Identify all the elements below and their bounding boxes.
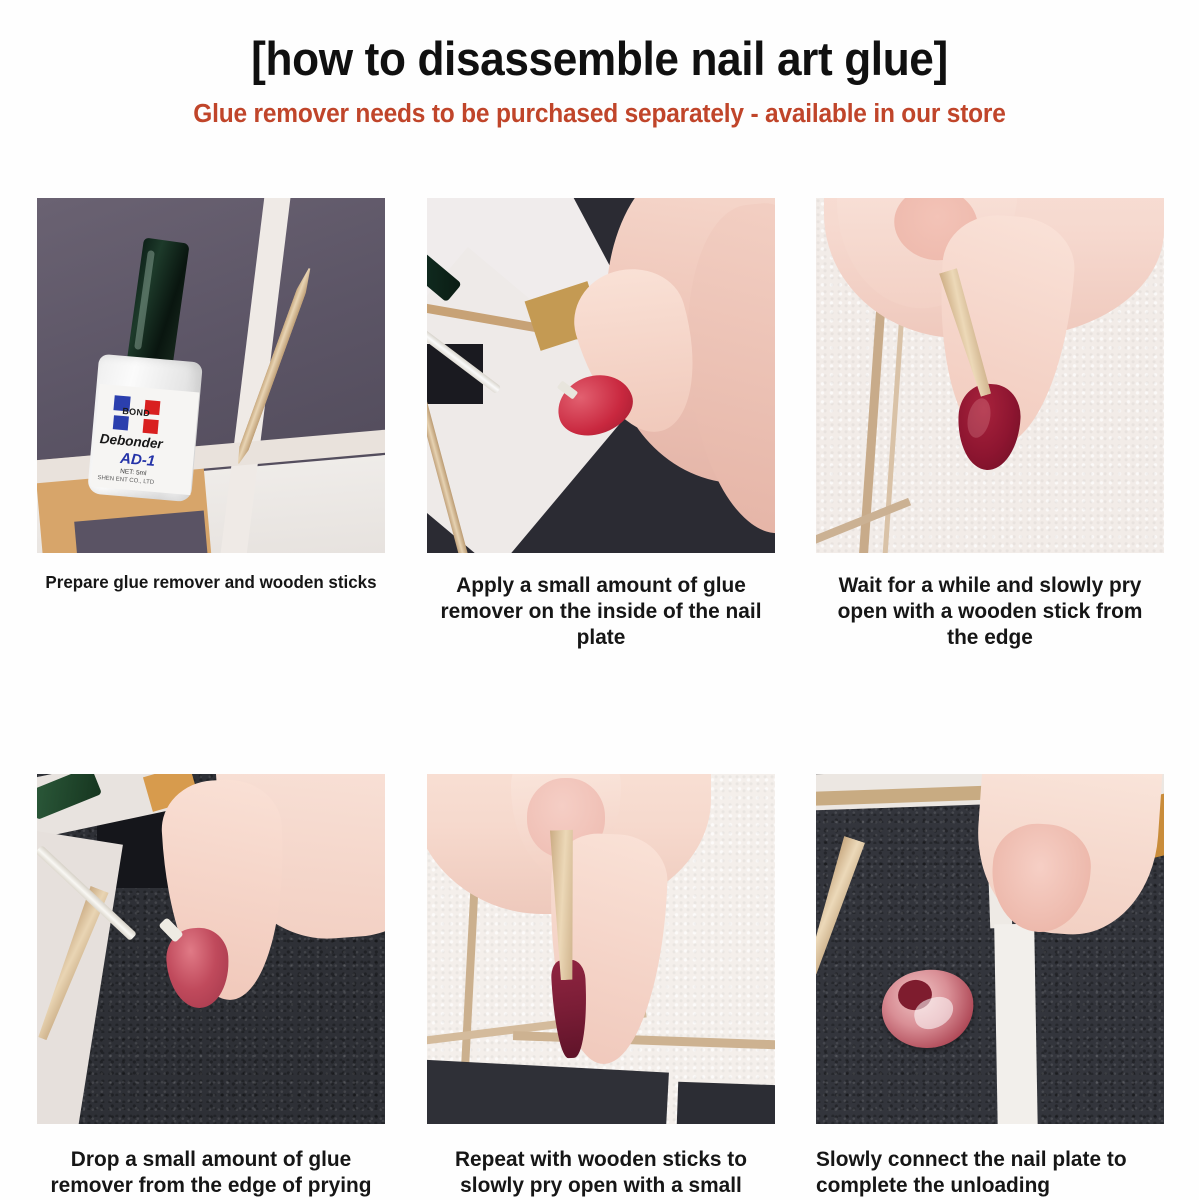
step-caption-2: Apply a small amount of glue remover on … bbox=[432, 572, 770, 651]
logo-square-red-2 bbox=[143, 419, 159, 434]
step-photo-2 bbox=[427, 198, 775, 553]
step-card-2: Apply a small amount of glue remover on … bbox=[427, 198, 775, 651]
instruction-infographic: [how to disassemble nail art glue] Glue … bbox=[0, 0, 1199, 1200]
step-caption-4: Drop a small amount of glue remover from… bbox=[42, 1146, 380, 1200]
product-code-text: AD-1 bbox=[120, 450, 156, 470]
step-caption-6: Slowly connect the nail plate to complet… bbox=[816, 1146, 1154, 1198]
step-card-6: Slowly connect the nail plate to complet… bbox=[816, 774, 1164, 1200]
step-photo-3 bbox=[816, 198, 1164, 553]
white-stripe-vertical-2 bbox=[994, 923, 1038, 1123]
page-subtitle: Glue remover needs to be purchased separ… bbox=[24, 100, 1175, 129]
dark-band-2 bbox=[675, 1081, 774, 1123]
bottle-label-content: BOND Debonder AD-1 NET: 5ml SHEN ENT CO.… bbox=[91, 384, 200, 495]
step-photo-5 bbox=[427, 774, 775, 1124]
step-card-5: Repeat with wooden sticks to slowly pry … bbox=[427, 774, 775, 1200]
logo-square-blue-2 bbox=[113, 415, 129, 430]
page-title: [how to disassemble nail art glue] bbox=[36, 34, 1163, 83]
step-photo-4 bbox=[37, 774, 385, 1124]
step-caption-1: Prepare glue remover and wooden sticks bbox=[42, 572, 380, 593]
step-card-4: Drop a small amount of glue remover from… bbox=[37, 774, 385, 1200]
steps-grid: BOND Debonder AD-1 NET: 5ml SHEN ENT CO.… bbox=[37, 198, 1164, 1200]
step-caption-3: Wait for a while and slowly pry open wit… bbox=[821, 572, 1159, 651]
net-volume-text: NET: 5ml bbox=[120, 468, 147, 477]
step-photo-1: BOND Debonder AD-1 NET: 5ml SHEN ENT CO.… bbox=[37, 198, 385, 553]
step-photo-6 bbox=[816, 774, 1164, 1124]
product-name-text: Debonder bbox=[99, 431, 163, 451]
step-card-1: BOND Debonder AD-1 NET: 5ml SHEN ENT CO.… bbox=[37, 198, 385, 651]
step-card-3: Wait for a while and slowly pry open wit… bbox=[816, 198, 1164, 651]
step-caption-5: Repeat with wooden sticks to slowly pry … bbox=[432, 1146, 770, 1200]
header: [how to disassemble nail art glue] Glue … bbox=[0, 0, 1199, 129]
